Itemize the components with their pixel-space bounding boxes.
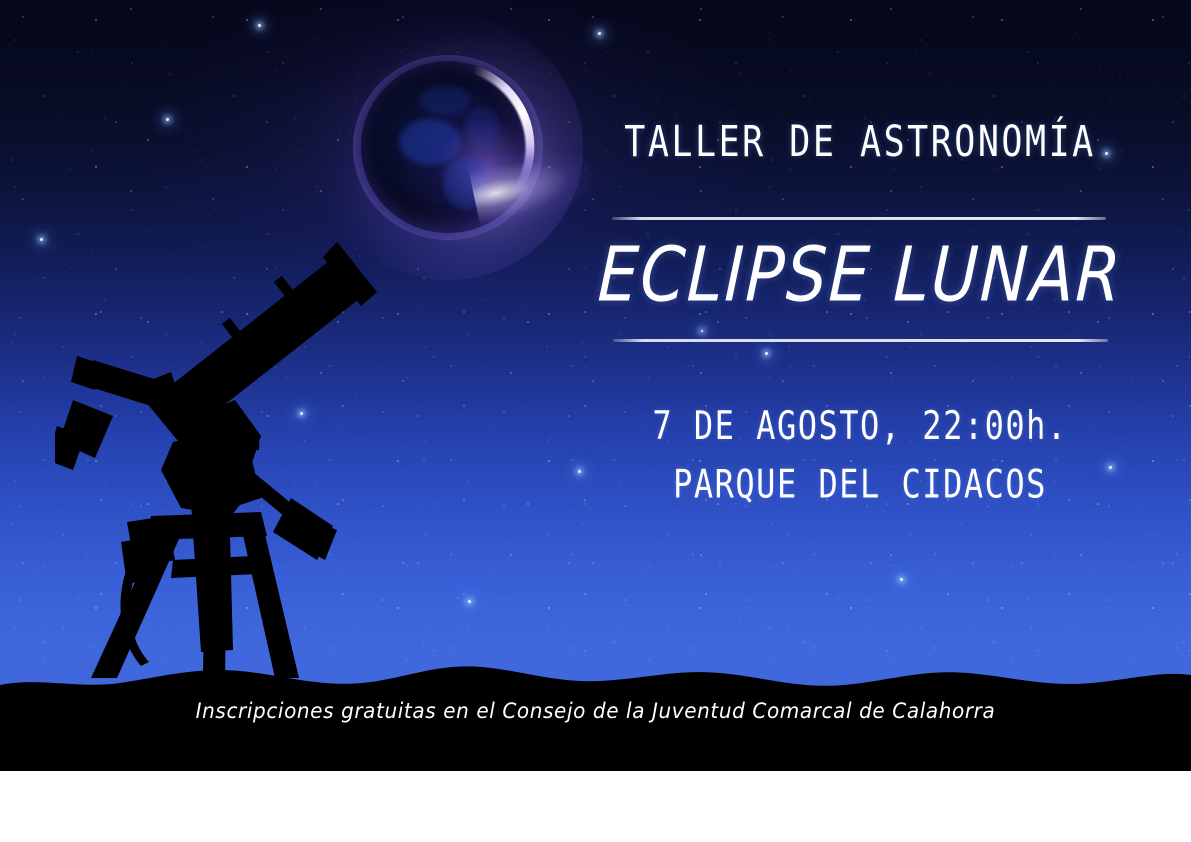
page-title-headline: TALLER DE ASTRONOMÍA [610,118,1110,167]
bright-star [900,578,903,581]
event-details: 7 DE AGOSTO, 22:00h. PARQUE DEL CIDACOS [600,400,1120,510]
event-date: 7 DE AGOSTO, 22:00h. [652,402,1067,448]
eclipsed-moon-graphic [353,55,543,240]
divider-top [612,217,1106,220]
bright-star [258,24,261,27]
page-title-main: ECLIPSE LUNAR [596,232,1120,319]
footer-bar: Organiza [0,771,1191,842]
telescope-silhouette-icon [55,230,395,680]
bright-star [598,32,601,35]
bright-star [765,352,768,355]
bright-star [468,600,471,603]
registration-note: Inscripciones gratuitas en el Consejo de… [0,698,1191,723]
bright-star [578,470,581,473]
event-location: PARQUE DEL CIDACOS [600,459,1120,511]
bright-star [166,118,169,121]
night-sky-background [0,0,1191,771]
divider-bottom [613,339,1108,342]
poster: TALLER DE ASTRONOMÍA ECLIPSE LUNAR 7 DE … [0,0,1191,842]
bright-star [40,238,43,241]
bright-star [701,330,703,332]
